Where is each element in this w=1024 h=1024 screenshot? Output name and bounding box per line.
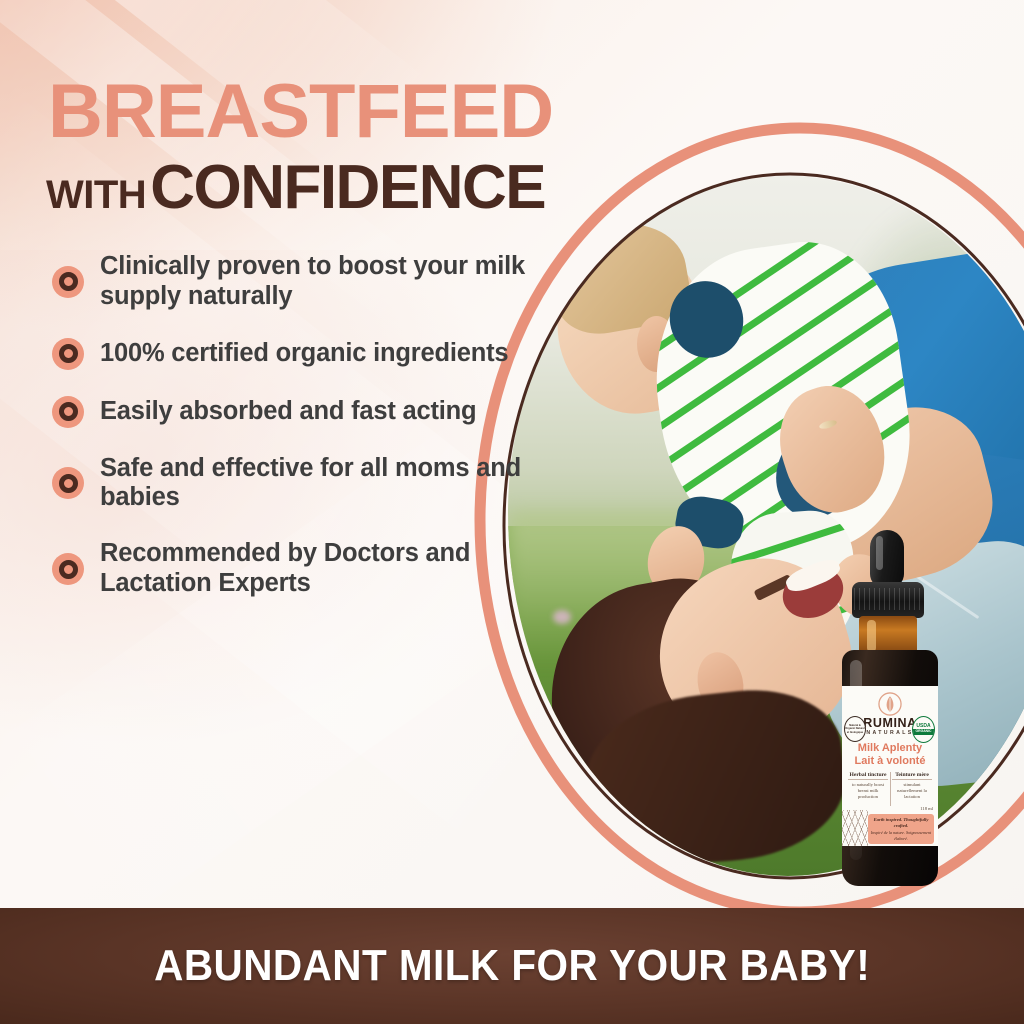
footer-text: ABUNDANT MILK FOR YOUR BABY! [154, 941, 870, 991]
benefit-text: Safe and effective for all moms and babi… [100, 454, 532, 514]
promo-poster: RUMINA NATURALS Milk Aplenty Lait à volo… [0, 0, 1024, 1024]
benefits-list: Clinically proven to boost your milk sup… [52, 252, 532, 625]
usda-organic-seal: USDA ORGANIC [912, 716, 935, 743]
benefit-text: Clinically proven to boost your milk sup… [100, 252, 532, 312]
list-item: 100% certified organic ingredients [52, 338, 532, 370]
label-desc-fr-body: stimulant naturellement la lactation [892, 782, 932, 801]
benefit-text: Easily absorbed and fast acting [100, 397, 476, 427]
bullet-circle-icon [52, 467, 84, 499]
label-name-en: Milk Aplenty [842, 742, 938, 754]
label-desc-fr-heading: Teinture mère [892, 772, 932, 780]
natural-organic-badge: Natural & Organic Naturel et biologique [844, 716, 866, 742]
benefit-text: 100% certified organic ingredients [100, 339, 508, 369]
label-desc-en-heading: Herbal tincture [848, 772, 888, 780]
headline-with: WITH [46, 173, 146, 218]
benefit-text: Recommended by Doctors and Lactation Exp… [100, 539, 532, 599]
headline-confidence: CONFIDENCE [150, 152, 545, 223]
label-name-fr: Lait à volonté [842, 755, 938, 767]
label-volume: 118 ml [920, 806, 933, 811]
label-tagline-pill: Earth inspired. Thoughtfully crafted. In… [868, 814, 934, 844]
label-desc-en-body: to naturally boost breast milk productio… [848, 782, 888, 801]
headline-line1: BREASTFEED [48, 76, 553, 148]
footer-banner: ABUNDANT MILK FOR YOUR BABY! [0, 908, 1024, 1024]
label-tagline-en: Earth inspired. Thoughtfully crafted. [868, 817, 934, 828]
product-bottle: RUMINA NATURALS Milk Aplenty Lait à volo… [812, 530, 962, 890]
bullet-circle-icon [52, 338, 84, 370]
bullet-circle-icon [52, 553, 84, 585]
list-item: Safe and effective for all moms and babi… [52, 454, 532, 514]
label-weave-pattern [842, 810, 868, 846]
bullet-circle-icon [52, 396, 84, 428]
list-item: Recommended by Doctors and Lactation Exp… [52, 539, 532, 599]
usda-seal-bottom: ORGANIC [913, 729, 934, 734]
label-tagline-fr: Inspiré de la nature. Soigneusement élab… [868, 830, 934, 841]
list-item: Easily absorbed and fast acting [52, 396, 532, 428]
leaf-logo-icon [877, 691, 903, 717]
bottle-label: RUMINA NATURALS Milk Aplenty Lait à volo… [842, 686, 938, 846]
headline-line2: WITH CONFIDENCE [46, 152, 545, 223]
list-item: Clinically proven to boost your milk sup… [52, 252, 532, 312]
bullet-circle-icon [52, 266, 84, 298]
